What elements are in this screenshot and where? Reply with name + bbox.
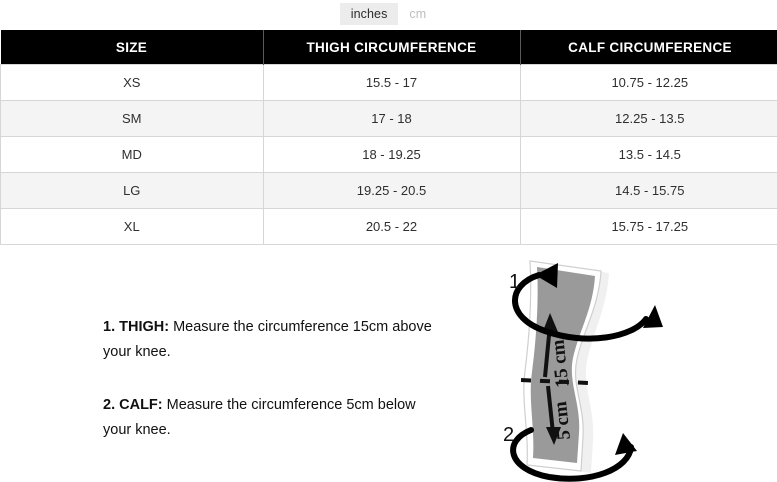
cell-thigh: 17 - 18	[263, 101, 520, 137]
cell-calf: 15.75 - 17.25	[520, 209, 777, 245]
cell-size: MD	[1, 137, 264, 173]
cell-thigh: 20.5 - 22	[263, 209, 520, 245]
cell-thigh: 15.5 - 17	[263, 65, 520, 101]
column-header-thigh-circumference: THIGH CIRCUMFERENCE	[263, 30, 520, 65]
cell-calf: 14.5 - 15.75	[520, 173, 777, 209]
cell-calf: 13.5 - 14.5	[520, 137, 777, 173]
column-header-size: SIZE	[1, 30, 264, 65]
cell-size: XL	[1, 209, 264, 245]
table-body: XS 15.5 - 17 10.75 - 12.25 SM 17 - 18 12…	[1, 65, 777, 245]
diagram-marker-1: 1	[509, 271, 520, 293]
instruction-calf-label: 2. CALF:	[103, 397, 163, 413]
column-header-calf-circumference: CALF CIRCUMFERENCE	[520, 30, 777, 65]
table-row: XS 15.5 - 17 10.75 - 12.25	[1, 65, 777, 101]
table-row: MD 18 - 19.25 13.5 - 14.5	[1, 137, 777, 173]
cell-size: LG	[1, 173, 264, 209]
instruction-calf: 2. CALF: Measure the circumference 5cm b…	[103, 393, 443, 443]
cell-thigh: 19.25 - 20.5	[263, 173, 520, 209]
size-chart-table-container: SIZE THIGH CIRCUMFERENCE CALF CIRCUMFERE…	[0, 30, 777, 245]
unit-toggle[interactable]: inches cm	[0, 3, 777, 25]
cell-calf: 12.25 - 13.5	[520, 101, 777, 137]
unit-tab-inches[interactable]: inches	[340, 3, 399, 25]
cell-calf: 10.75 - 12.25	[520, 65, 777, 101]
leg-measurement-diagram: 15 cm 5 cm 1 2	[483, 255, 683, 482]
unit-tab-cm[interactable]: cm	[398, 3, 437, 25]
cell-thigh: 18 - 19.25	[263, 137, 520, 173]
instruction-thigh: 1. THIGH: Measure the circumference 15cm…	[103, 315, 443, 365]
size-chart-table: SIZE THIGH CIRCUMFERENCE CALF CIRCUMFERE…	[0, 30, 777, 245]
cell-size: SM	[1, 101, 264, 137]
calf-measure-label: 5 cm	[550, 400, 575, 441]
cell-size: XS	[1, 65, 264, 101]
diagram-marker-2: 2	[503, 424, 514, 446]
measurement-guide-section: 1. THIGH: Measure the circumference 15cm…	[0, 255, 777, 482]
table-row: LG 19.25 - 20.5 14.5 - 15.75	[1, 173, 777, 209]
measurement-instructions: 1. THIGH: Measure the circumference 15cm…	[103, 315, 443, 443]
table-row: XL 20.5 - 22 15.75 - 17.25	[1, 209, 777, 245]
instruction-thigh-label: 1. THIGH:	[103, 319, 169, 335]
table-header-row: SIZE THIGH CIRCUMFERENCE CALF CIRCUMFERE…	[1, 30, 777, 65]
table-header: SIZE THIGH CIRCUMFERENCE CALF CIRCUMFERE…	[1, 30, 777, 65]
table-row: SM 17 - 18 12.25 - 13.5	[1, 101, 777, 137]
